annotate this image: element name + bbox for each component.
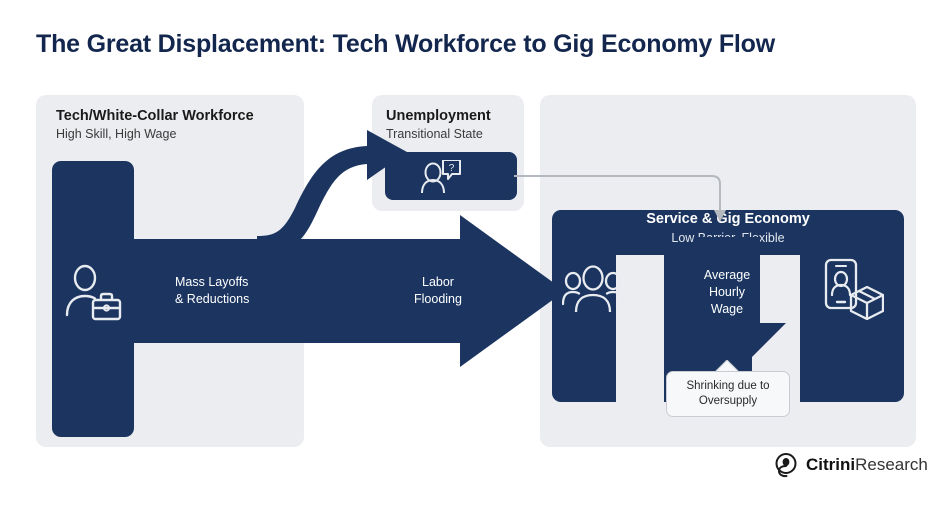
citrini-mark-icon — [773, 452, 799, 478]
flow-label-labor-flooding-line2: Flooding — [390, 291, 486, 307]
people-group-icon — [562, 264, 624, 312]
wage-label-line3: Wage — [668, 301, 786, 318]
person-question-icon: ? — [421, 160, 461, 193]
callout-line2: Oversupply — [686, 394, 769, 409]
connector-unemployment-to-gig — [512, 168, 732, 228]
flow-label-mass-layoffs-line2: & Reductions — [175, 291, 249, 307]
wage-label-line2: Hourly — [668, 284, 786, 301]
panel-tech-workforce-title: Tech/White-Collar Workforce — [56, 108, 254, 124]
panel-tech-workforce-subtitle: High Skill, High Wage — [56, 127, 176, 141]
citrini-research-logo: CitriniResearch — [773, 450, 928, 480]
panel-unemployment-title: Unemployment — [386, 108, 491, 124]
diagram-canvas: The Great Displacement: Tech Workforce t… — [0, 0, 945, 506]
wage-arrow-label: Average Hourly Wage — [668, 267, 786, 318]
wage-label-line1: Average — [668, 267, 786, 284]
branch-arrow-to-unemployment — [255, 130, 415, 255]
logo-text: CitriniResearch — [806, 455, 928, 475]
callout-shrinking-wage: Shrinking due to Oversupply — [666, 371, 790, 417]
phone-package-icon — [822, 258, 884, 320]
person-briefcase-icon — [63, 263, 123, 323]
page-title: The Great Displacement: Tech Workforce t… — [36, 30, 916, 59]
svg-text:?: ? — [449, 163, 455, 174]
callout-line1: Shrinking due to — [686, 379, 769, 394]
flow-label-labor-flooding-line1: Labor — [390, 274, 486, 290]
logo-name-regular: Research — [855, 455, 928, 474]
logo-name-bold: Citrini — [806, 455, 855, 474]
flow-label-mass-layoffs-line1: Mass Layoffs — [175, 274, 248, 290]
